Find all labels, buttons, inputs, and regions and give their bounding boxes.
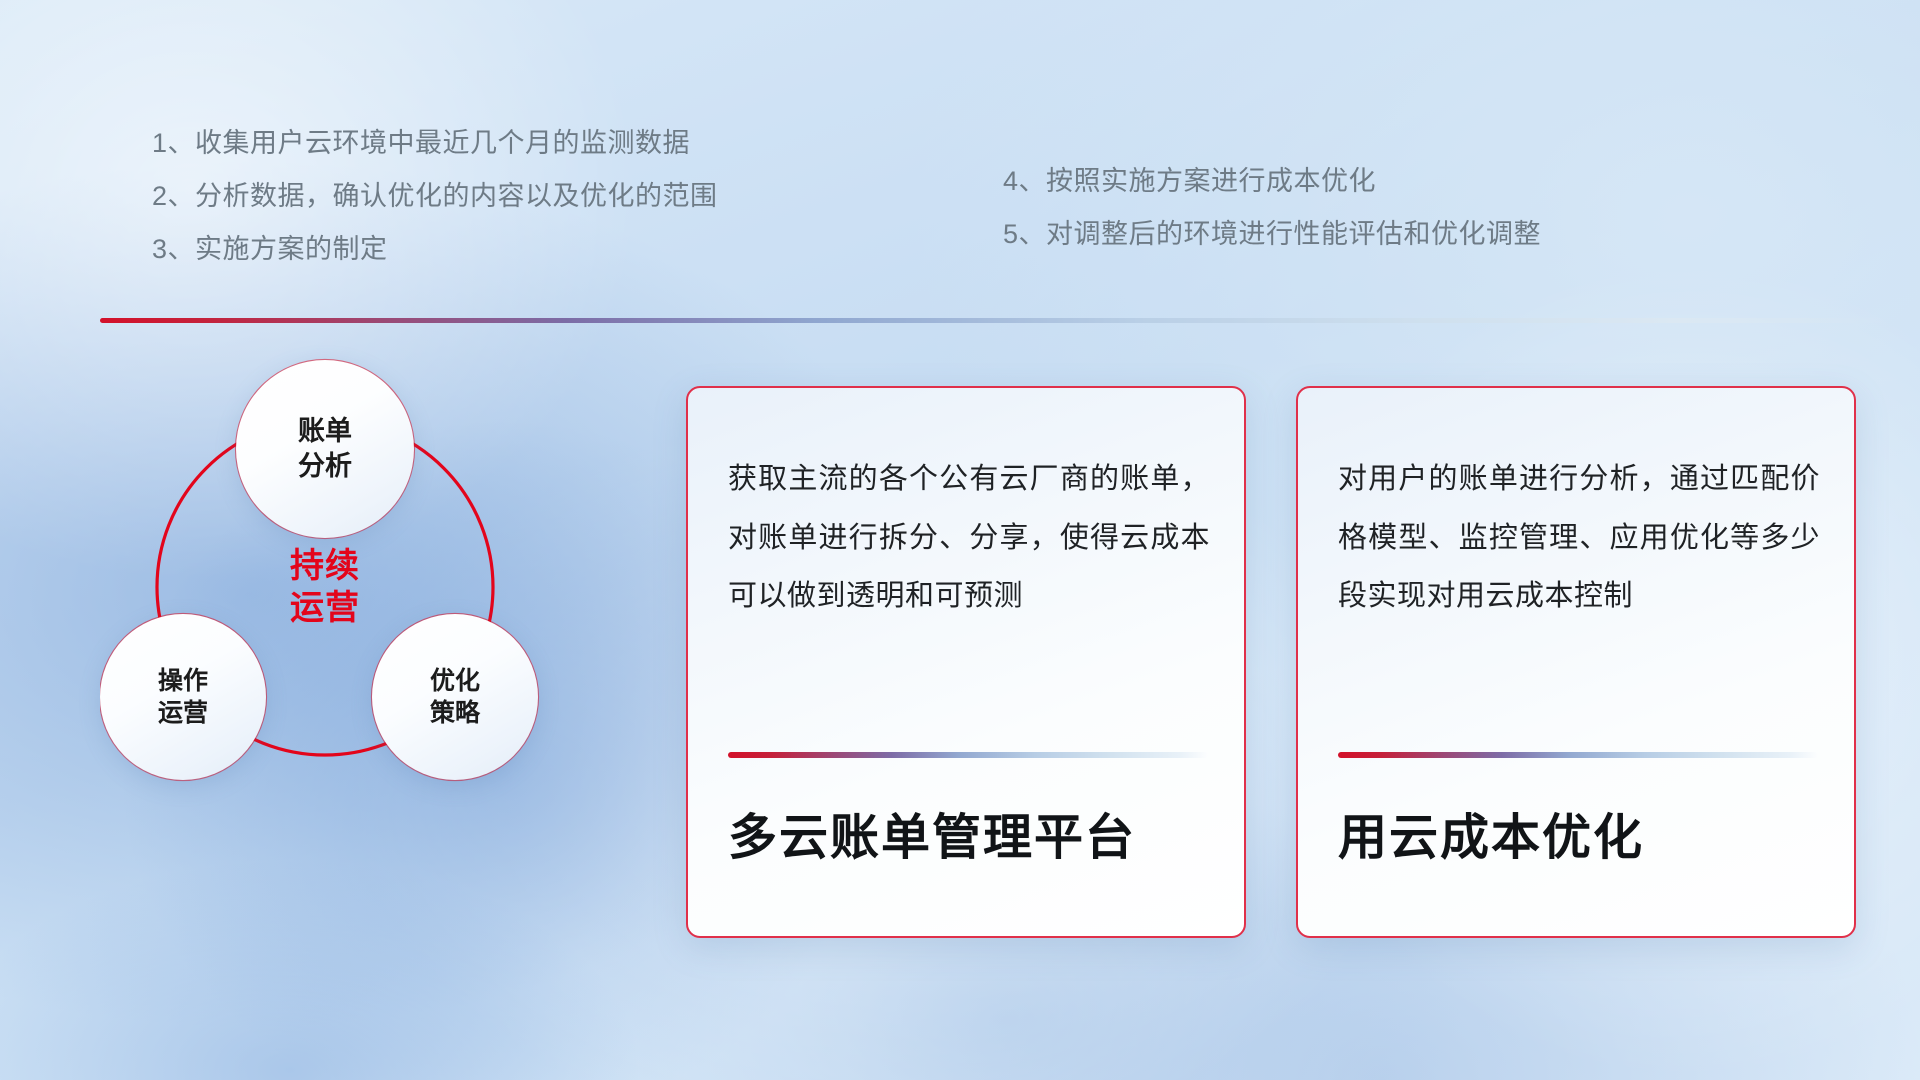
card-1-body: 获取主流的各个公有云厂商的账单，对账单进行拆分、分享，使得云成本可以做到透明和可… xyxy=(728,450,1210,626)
section-divider-rule xyxy=(100,318,1890,323)
card-2-title: 用云成本优化 xyxy=(1338,808,1824,869)
steps-list-left: 1、收集用户云环境中最近几个月的监测数据 2、分析数据，确认优化的内容以及优化的… xyxy=(152,130,718,289)
steps-list-right: 4、按照实施方案进行成本优化 5、对调整后的环境进行性能评估和优化调整 xyxy=(1003,168,1541,274)
card-1-title: 多云账单管理平台 xyxy=(728,808,1214,869)
step-item-1: 1、收集用户云环境中最近几个月的监测数据 xyxy=(152,130,718,157)
step-item-5: 5、对调整后的环境进行性能评估和优化调整 xyxy=(1003,221,1541,248)
bubble-right-line2: 策略 xyxy=(430,697,480,729)
step-item-3: 3、实施方案的制定 xyxy=(152,236,718,263)
bubble-left-line1: 操作 xyxy=(158,665,208,697)
feature-card-multicloud-billing[interactable]: 获取主流的各个公有云厂商的账单，对账单进行拆分、分享，使得云成本可以做到透明和可… xyxy=(686,386,1246,938)
bubble-top-line1: 账单 xyxy=(298,414,352,449)
bubble-top-line2: 分析 xyxy=(298,449,352,484)
diagram-bubble-bill-analysis[interactable]: 账单 分析 xyxy=(236,360,414,538)
diagram-bubble-optimization-strategy[interactable]: 优化 策略 xyxy=(372,614,538,780)
card-1-divider xyxy=(728,752,1208,758)
step-item-4: 4、按照实施方案进行成本优化 xyxy=(1003,168,1541,195)
bubble-left-line2: 运营 xyxy=(158,697,208,729)
center-label-line1: 持续 xyxy=(290,545,360,588)
card-2-divider xyxy=(1338,752,1818,758)
card-2-body: 对用户的账单进行分析，通过匹配价格模型、监控管理、应用优化等多少段实现对用云成本… xyxy=(1338,450,1820,626)
bubble-right-line1: 优化 xyxy=(430,665,480,697)
center-label-line2: 运营 xyxy=(290,587,360,630)
step-item-2: 2、分析数据，确认优化的内容以及优化的范围 xyxy=(152,183,718,210)
feature-card-cloud-cost-optimization[interactable]: 对用户的账单进行分析，通过匹配价格模型、监控管理、应用优化等多少段实现对用云成本… xyxy=(1296,386,1856,938)
slide-canvas: 1、收集用户云环境中最近几个月的监测数据 2、分析数据，确认优化的内容以及优化的… xyxy=(0,0,1920,1080)
diagram-center-label: 持续 运营 xyxy=(260,522,390,652)
diagram-bubble-operations[interactable]: 操作 运营 xyxy=(100,614,266,780)
continuous-operation-diagram: 账单 分析 操作 运营 优化 策略 持续 运营 xyxy=(100,350,640,950)
